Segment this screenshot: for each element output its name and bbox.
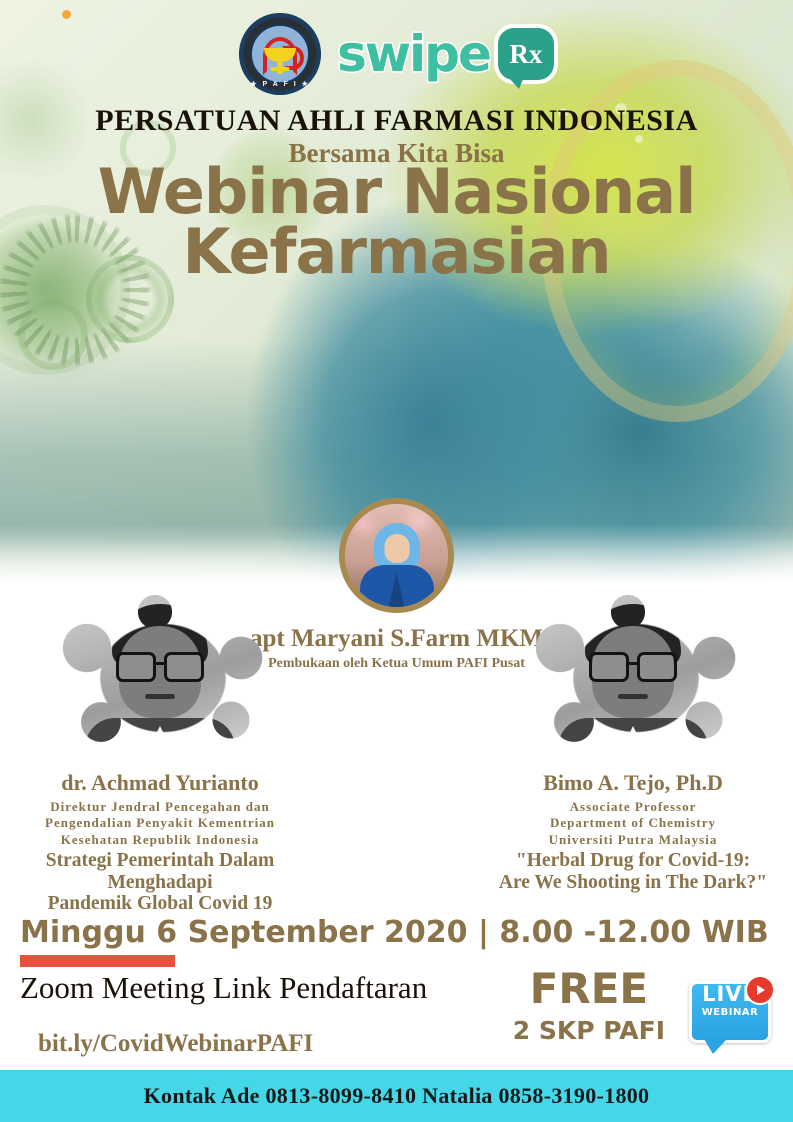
page-title: Webinar Nasional Kefarmasian	[0, 162, 793, 281]
event-date-time: Minggu 6 September 2020 | 8.00 -12.00 WI…	[20, 915, 769, 950]
face-shape	[384, 534, 409, 563]
swipe-wordmark: swipe	[337, 29, 490, 79]
registration-link[interactable]: bit.ly/CovidWebinarPAFI	[38, 1030, 313, 1058]
logo-row: ★ P A F I ★ swipe Rx	[0, 8, 793, 100]
organization-title: PERSATUAN AHLI FARMASI INDONESIA	[0, 104, 793, 138]
speaker-left-affiliation: Direktur Jendral Pencegahan dan Pengenda…	[0, 799, 325, 848]
bowl-foot	[271, 67, 290, 71]
eyeglasses-icon	[116, 652, 204, 676]
platform-label: Zoom Meeting Link Pendaftaran	[20, 970, 427, 1006]
title-line-2: Kefarmasian	[0, 222, 793, 282]
webinar-label: WEBINAR	[685, 1007, 775, 1018]
speaker-left: dr. Achmad Yurianto Direktur Jendral Pen…	[0, 586, 325, 915]
portrait-mouth	[145, 694, 175, 699]
rx-label: Rx	[509, 41, 542, 68]
speaker-right-portrait	[508, 586, 758, 766]
speaker-right-topic: "Herbal Drug for Covid-19: Are We Shooti…	[468, 850, 793, 894]
pafi-logo-icon: ★ P A F I ★	[239, 13, 321, 95]
rx-speech-bubble-icon: Rx	[498, 28, 554, 80]
price-badge: FREE 2 SKP PAFI	[513, 968, 665, 1045]
speaker-left-name: dr. Achmad Yurianto	[0, 770, 325, 796]
contact-footer: Kontak Ade 0813-8099-8410 Natalia 0858-3…	[0, 1070, 793, 1122]
price-label: FREE	[513, 968, 665, 1010]
avatar	[339, 498, 454, 613]
credits-label: 2 SKP PAFI	[513, 1016, 665, 1045]
speaker-left-portrait	[35, 586, 285, 766]
webinar-poster: ★ P A F I ★ swipe Rx PERSATUAN AHLI FARM…	[0, 0, 793, 1122]
speaker-right-name: Bimo A. Tejo, Ph.D	[468, 770, 793, 796]
speaker-left-topic: Strategi Pemerintah Dalam Menghadapi Pan…	[0, 850, 325, 915]
eyeglasses-icon	[589, 652, 677, 676]
contact-text: Kontak Ade 0813-8099-8410 Natalia 0858-3…	[144, 1083, 650, 1109]
portrait-mouth	[618, 694, 648, 699]
play-button-icon	[745, 975, 775, 1005]
pafi-ring-label: ★ P A F I ★	[239, 80, 321, 88]
pafi-inner-disc	[250, 24, 310, 84]
swipe-dot-icon	[62, 10, 71, 19]
speaker-right: Bimo A. Tejo, Ph.D Associate Professor D…	[468, 586, 793, 893]
live-webinar-badge: LIVE WEBINAR	[685, 975, 775, 1047]
virus-particle-icon	[18, 300, 88, 370]
accent-underline	[20, 955, 175, 967]
swiperx-logo: swipe Rx	[337, 28, 554, 80]
speaker-right-affiliation: Associate Professor Department of Chemis…	[468, 799, 793, 848]
